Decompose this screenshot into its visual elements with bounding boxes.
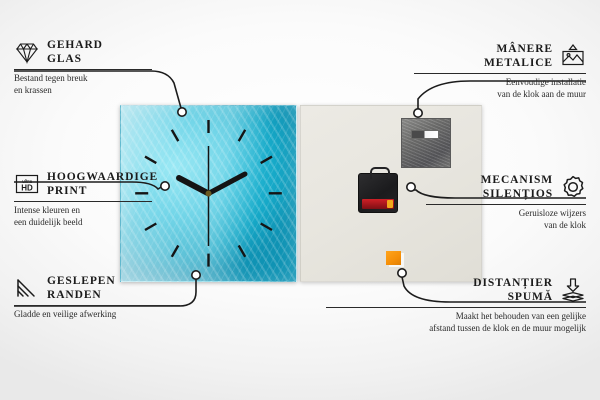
connector-dot-edges (192, 271, 200, 279)
feature-distantier-spuma: DISTANȚIER SPUMĂ Maakt het behouden van … (326, 276, 586, 335)
feature-desc-line1: Geruisloze wijzers (426, 208, 586, 220)
feature-title-line2: GLAS (47, 52, 103, 66)
beveled-edges-icon (14, 275, 40, 301)
feature-manere-metalice: MÂNERE METALICE Eenvoudige installatie v… (414, 42, 586, 101)
feature-title-line2: RANDEN (47, 288, 116, 302)
feature-title-line1: HOOGWAARDIGE (47, 170, 158, 184)
feature-desc-line2: van de klok aan de muur (414, 89, 586, 101)
feature-geslepen-randen: GESLEPEN RANDEN Gladde en veilige afwerk… (14, 274, 180, 321)
feature-title-line2: METALICE (484, 56, 553, 70)
diamond-icon (14, 39, 40, 65)
divider (426, 204, 586, 205)
feature-desc-line1: Maakt het behouden van een gelijke (326, 311, 586, 323)
gear-icon (560, 174, 586, 200)
feature-desc-line1: Intense kleuren en (14, 205, 152, 217)
feature-desc-line2: en krassen (14, 85, 152, 97)
foam-spacer-icon (560, 277, 586, 303)
feature-title-line2: SILENȚIOS (481, 187, 553, 201)
divider (14, 201, 152, 202)
feature-title-line1: GESLEPEN (47, 274, 116, 288)
infographic-canvas: GEHARD GLAS Bestand tegen breuk en krass… (0, 0, 600, 400)
feature-desc-line2: van de klok (426, 220, 586, 232)
feature-title-line1: MECANISM (481, 173, 553, 187)
connector-dot-print (161, 182, 169, 190)
connector-dot-glass (178, 108, 186, 116)
feature-title-line1: GEHARD (47, 38, 103, 52)
feature-title-line1: DISTANȚIER (473, 276, 553, 290)
divider (14, 69, 152, 70)
connector-dot-hanger (414, 109, 422, 117)
feature-desc-line2: een duidelijk beeld (14, 217, 152, 229)
feature-desc-line1: Bestand tegen breuk (14, 73, 152, 85)
feature-desc-line1: Eenvoudige installatie (414, 77, 586, 89)
divider (326, 307, 586, 308)
feature-desc-line1: Gladde en veilige afwerking (14, 309, 180, 321)
svg-text:HD: HD (21, 184, 33, 193)
connector-dot-mechanism (407, 183, 415, 191)
feature-hoogwaardige-print: ultra HD HOOGWAARDIGE PRINT Intense kleu… (14, 170, 152, 229)
feature-mecanism-silentios: MECANISM SILENȚIOS Geruisloze wijzers va… (426, 173, 586, 232)
ultra-hd-icon: ultra HD (14, 171, 40, 197)
feature-title-line1: MÂNERE (484, 42, 553, 56)
divider (14, 305, 180, 306)
feature-desc-line2: afstand tussen de klok en de muur mogeli… (326, 323, 586, 335)
feature-title-line2: SPUMĂ (473, 290, 553, 304)
wall-frame-icon (560, 43, 586, 69)
feature-title-line2: PRINT (47, 184, 158, 198)
divider (414, 73, 586, 74)
feature-gehard-glas: GEHARD GLAS Bestand tegen breuk en krass… (14, 38, 152, 97)
